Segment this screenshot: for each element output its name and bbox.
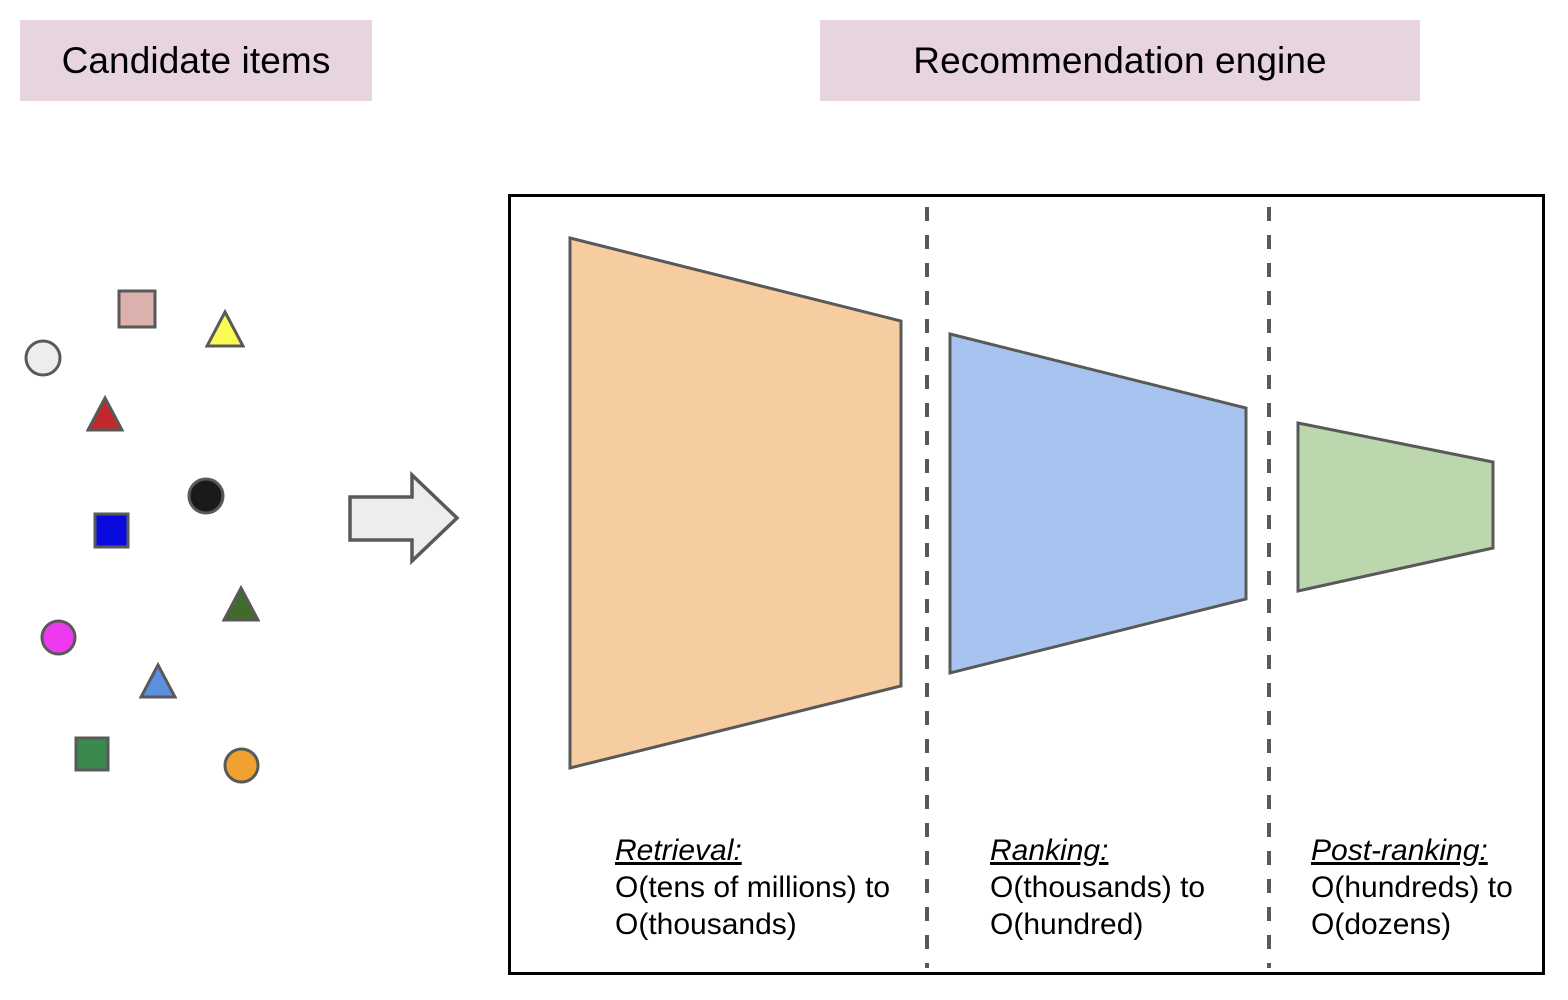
- candidate-items-header: Candidate items: [20, 20, 372, 101]
- ranking-stage-label: Ranking: O(thousands) to O(hundred): [990, 832, 1205, 943]
- recommendation-engine-header: Recommendation engine: [820, 20, 1420, 101]
- recommendation-engine-header-label: Recommendation engine: [913, 42, 1326, 79]
- postranking-stage-line-2: O(dozens): [1311, 906, 1513, 943]
- diagram-canvas: Candidate items Recommendation engine Re…: [0, 0, 1568, 1000]
- blue-square: [93, 512, 130, 549]
- ranking-stage-line-1: O(thousands) to: [990, 869, 1205, 906]
- dark-red-triangle: [86, 395, 124, 433]
- postranking-stage-label: Post-ranking: O(hundreds) to O(dozens): [1311, 832, 1513, 943]
- retrieval-stage-line-2: O(thousands): [615, 906, 890, 943]
- flow-arrow-icon: [346, 470, 466, 570]
- retrieval-funnel-shape: [570, 238, 901, 768]
- black-circle: [187, 477, 225, 515]
- yellow-triangle: [205, 309, 245, 349]
- orange-circle: [223, 747, 260, 784]
- pink-square: [117, 289, 157, 329]
- postranking-stage-line-1: O(hundreds) to: [1311, 869, 1513, 906]
- ranking-stage-title: Ranking:: [990, 832, 1205, 869]
- retrieval-stage-title: Retrieval:: [615, 832, 890, 869]
- light-gray-circle: [24, 339, 62, 377]
- retrieval-stage-line-1: O(tens of millions) to: [615, 869, 890, 906]
- retrieval-stage-label: Retrieval: O(tens of millions) to O(thou…: [615, 832, 890, 943]
- dark-green-triangle: [222, 585, 260, 623]
- postranking-funnel-shape: [1298, 423, 1493, 591]
- green-square: [74, 736, 110, 772]
- ranking-stage-line-2: O(hundred): [990, 906, 1205, 943]
- ranking-funnel-shape: [950, 334, 1246, 673]
- candidate-items-header-label: Candidate items: [62, 42, 331, 79]
- recommendation-engine-panel: Retrieval: O(tens of millions) to O(thou…: [508, 194, 1545, 975]
- magenta-circle: [40, 619, 77, 656]
- postranking-stage-title: Post-ranking:: [1311, 832, 1513, 869]
- cornflower-triangle: [139, 662, 177, 700]
